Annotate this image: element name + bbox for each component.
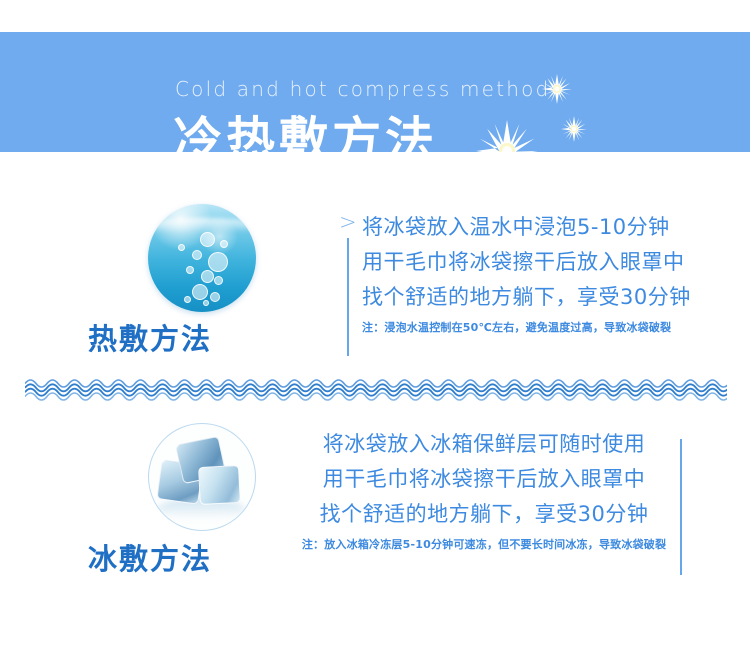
ice-cube	[198, 465, 241, 505]
section-label-ice-compress: 冰敷方法	[0, 545, 300, 574]
instructions-hot-compress: > 将冰袋放入温水中浸泡5-10分钟 用干毛巾将冰袋擦干后放入眼罩中 找个舒适的…	[333, 210, 691, 337]
instruction-note: 注：放入冰箱冷冻层5-10分钟可速冻，但不要长时间冰冻，导致冰袋破裂	[300, 532, 682, 554]
accent-rule-right	[680, 439, 682, 575]
sparkle-star-icon-large	[476, 120, 538, 152]
header-subtitle: Cold and hot compress method	[175, 79, 550, 99]
instruction-note: 注：浸泡水温控制在50℃左右，避免温度过高，导致冰袋破裂	[333, 315, 691, 337]
instruction-line: 将冰袋放入温水中浸泡5-10分钟	[333, 210, 691, 245]
instruction-line: 找个舒适的地方躺下，享受30分钟	[300, 497, 682, 532]
water-bubbles-photo	[148, 204, 256, 312]
instruction-line: 用干毛巾将冰袋擦干后放入眼罩中	[300, 462, 682, 497]
chevron-right-icon: >	[339, 212, 357, 233]
page-title: 冷热敷方法	[173, 116, 438, 152]
header-banner: Cold and hot compress method 冷热敷方法	[0, 32, 750, 152]
section-hot-compress: 热敷方法 > 将冰袋放入温水中浸泡5-10分钟 用干毛巾将冰袋擦干后放入眼罩中 …	[0, 190, 750, 370]
accent-rule-left	[347, 238, 349, 356]
instruction-line: 用干毛巾将冰袋擦干后放入眼罩中	[333, 245, 691, 280]
section-label-hot-compress: 热敷方法	[0, 325, 300, 354]
instruction-line: 将冰袋放入冰箱保鲜层可随时使用	[300, 427, 682, 462]
bubble-group	[148, 204, 256, 312]
instructions-ice-compress: 将冰袋放入冰箱保鲜层可随时使用 用干毛巾将冰袋擦干后放入眼罩中 找个舒适的地方躺…	[300, 427, 682, 554]
section-ice-compress: 冰敷方法 将冰袋放入冰箱保鲜层可随时使用 用干毛巾将冰袋擦干后放入眼罩中 找个舒…	[0, 405, 750, 590]
sparkle-star-icon-middle	[561, 116, 587, 142]
instruction-line: 找个舒适的地方躺下，享受30分钟	[333, 280, 691, 315]
ice-cubes-photo	[148, 423, 256, 531]
wavy-divider	[25, 378, 727, 402]
